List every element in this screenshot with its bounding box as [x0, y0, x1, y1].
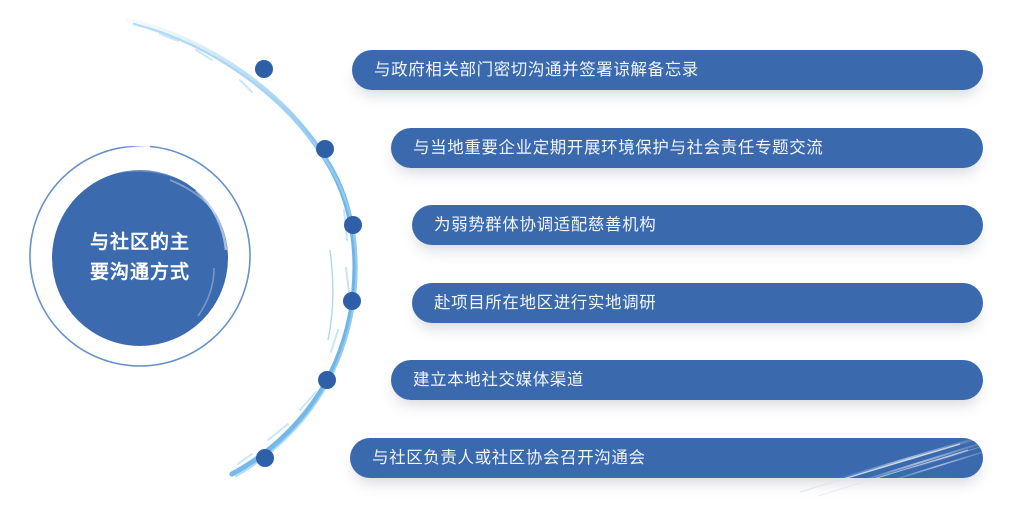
- item-pill-label-3: 为弱势群体协调适配慈善机构: [412, 205, 656, 245]
- hub-label: 与社区的主 要沟通方式: [90, 228, 190, 288]
- item-pill-label-5: 建立本地社交媒体渠道: [391, 360, 584, 400]
- connector-dots: [255, 60, 362, 467]
- connector-dot-2: [316, 140, 334, 158]
- item-pill-2[interactable]: 与当地重要企业定期开展环境保护与社会责任专题交流: [391, 128, 983, 168]
- connector-dot-1: [255, 60, 273, 78]
- item-pill-label-2: 与当地重要企业定期开展环境保护与社会责任专题交流: [391, 128, 823, 168]
- item-pill-label-1: 与政府相关部门密切沟通并签署谅解备忘录: [352, 50, 699, 90]
- connector-dot-5: [318, 371, 336, 389]
- connector-dot-4: [343, 292, 361, 310]
- hub: 与社区的主 要沟通方式: [52, 170, 228, 346]
- item-pill-1[interactable]: 与政府相关部门密切沟通并签署谅解备忘录: [352, 50, 983, 90]
- item-pill-5[interactable]: 建立本地社交媒体渠道: [391, 360, 983, 400]
- item-pill-label-6: 与社区负责人或社区协会召开沟通会: [350, 438, 646, 478]
- connector-dot-3: [344, 216, 362, 234]
- infographic-canvas: 与社区的主 要沟通方式 与政府相关部门密切沟通并签署谅解备忘录 与当地重要企业定…: [0, 0, 1011, 523]
- item-pill-label-4: 赴项目所在地区进行实地调研: [412, 283, 656, 323]
- item-pill-3[interactable]: 为弱势群体协调适配慈善机构: [412, 205, 983, 245]
- item-pill-4[interactable]: 赴项目所在地区进行实地调研: [412, 283, 983, 323]
- connector-dot-6: [256, 449, 274, 467]
- item-pill-6[interactable]: 与社区负责人或社区协会召开沟通会: [350, 438, 983, 478]
